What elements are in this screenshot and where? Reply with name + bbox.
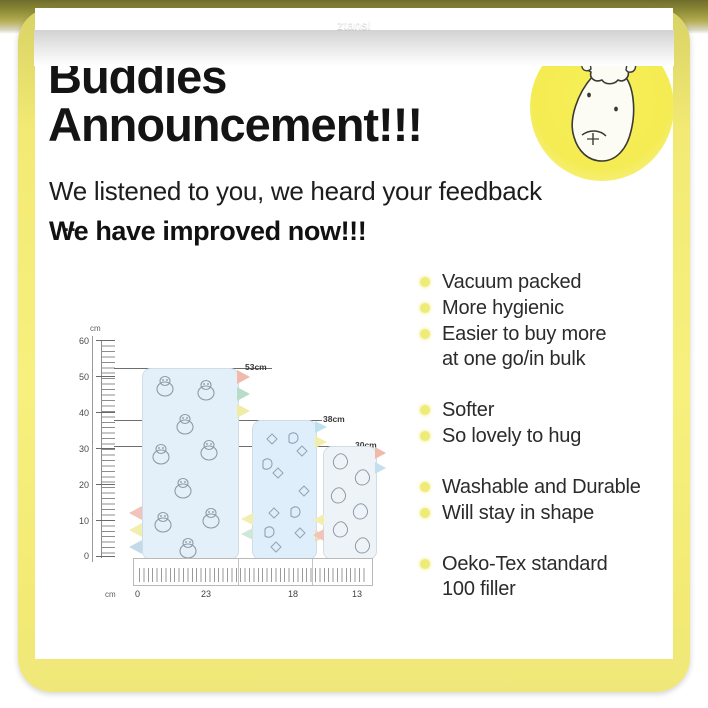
- bullet-dot-icon: [420, 405, 430, 415]
- list-item-label: Easier to buy more at one go/in bulk: [442, 322, 606, 372]
- large-pillow: [142, 368, 239, 560]
- subtitle-line-2: We have improved now!!!: [49, 216, 569, 247]
- pillow-tag: [241, 528, 253, 540]
- comfort-group: Softer So lovely to hug: [420, 398, 673, 449]
- page-title: Buddies Announcement!!!: [48, 53, 528, 149]
- pillow-tag: [375, 462, 386, 474]
- bullet-dot-icon: [420, 482, 430, 492]
- pillow-tag: [315, 421, 327, 433]
- bullet-dot-icon: [420, 277, 430, 287]
- list-item: Softer: [420, 398, 673, 423]
- bullet-dot-icon: [420, 329, 430, 339]
- list-item: Washable and Durable: [420, 475, 673, 500]
- pillow-tag: [313, 529, 324, 541]
- medium-pillow: [252, 420, 317, 560]
- vertical-tick-30: 30: [71, 444, 89, 454]
- list-item-label: Washable and Durable: [442, 475, 641, 500]
- horizontal-tick-0: 0: [135, 589, 140, 599]
- list-item: More hygienic: [420, 296, 673, 321]
- grey-fade-overlay: [34, 30, 674, 66]
- pillow-tag: [129, 523, 142, 537]
- list-item-label: So lovely to hug: [442, 424, 581, 449]
- vertical-tick-10: 10: [71, 516, 89, 526]
- pillow-tag: [375, 447, 386, 459]
- pillow-tag: [241, 513, 253, 525]
- list-item-label: Softer: [442, 398, 494, 423]
- horizontal-ruler: [133, 558, 373, 586]
- poster-card: Buddies Announcement!!! We listened to y…: [35, 8, 673, 659]
- pillow-tag: [237, 370, 250, 384]
- care-group: Washable and Durable Will stay in shape: [420, 475, 673, 526]
- list-item: Will stay in shape: [420, 501, 673, 526]
- pillow-tag: [313, 514, 324, 526]
- pillow-tag: [237, 387, 250, 401]
- list-item: Vacuum packed: [420, 270, 673, 295]
- bullet-dot-icon: [420, 303, 430, 313]
- vertical-tick-40: 40: [71, 408, 89, 418]
- horizontal-axis-unit-label: cm: [105, 590, 116, 599]
- list-item-label: Vacuum packed: [442, 270, 581, 295]
- watermark-text: ztansl: [0, 18, 708, 32]
- packaging-group: Vacuum packed More hygienic Easier to bu…: [420, 270, 673, 372]
- pillow-tag: [237, 404, 250, 418]
- vertical-ruler: [101, 340, 115, 558]
- bullet-dot-icon: [420, 559, 430, 569]
- horizontal-tick-23: 23: [201, 589, 211, 599]
- size-chart-diagram: cm 60 50 40 30 20 10 0 53cm 38: [45, 308, 405, 638]
- vertical-tick-60: 60: [71, 336, 89, 346]
- list-item: So lovely to hug: [420, 424, 673, 449]
- list-item: Oeko-Tex standard 100 filler: [420, 552, 673, 602]
- certification-group: Oeko-Tex standard 100 filler: [420, 552, 673, 602]
- vertical-tick-50: 50: [71, 372, 89, 382]
- bullet-dot-icon: [420, 431, 430, 441]
- vertical-axis-line: [92, 336, 93, 562]
- pillow-tag: [129, 506, 142, 520]
- list-item-label: Will stay in shape: [442, 501, 594, 526]
- pillow-tag: [129, 540, 142, 554]
- list-item-label: More hygienic: [442, 296, 564, 321]
- feature-list: Vacuum packed More hygienic Easier to bu…: [420, 270, 673, 628]
- announcement-poster: ztansl Buddies Announcement!!! We listen…: [0, 0, 708, 708]
- horizontal-tick-13: 13: [352, 589, 362, 599]
- list-item-label: Oeko-Tex standard 100 filler: [442, 552, 608, 602]
- bullet-dot-icon: [420, 508, 430, 518]
- vertical-axis-unit-label: cm: [90, 324, 101, 333]
- vertical-tick-0: 0: [71, 551, 89, 561]
- small-pillow: [323, 446, 377, 560]
- vertical-tick-20: 20: [71, 480, 89, 490]
- horizontal-tick-18: 18: [288, 589, 298, 599]
- list-item: Easier to buy more at one go/in bulk: [420, 322, 673, 372]
